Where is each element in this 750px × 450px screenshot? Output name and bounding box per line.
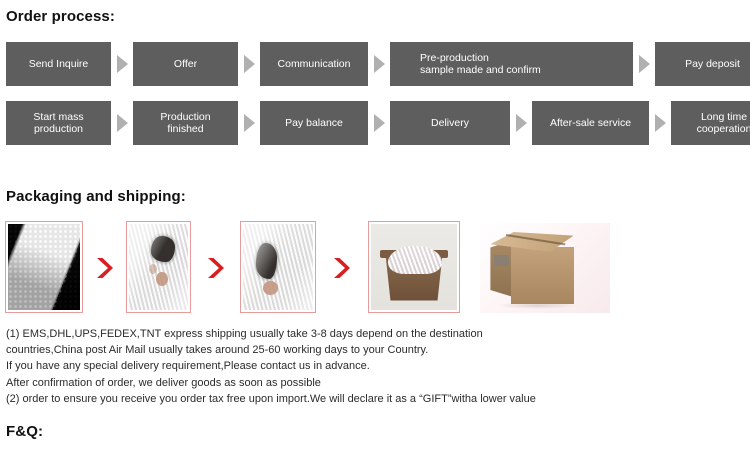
- process-step-label: Pay balance: [285, 117, 343, 130]
- process-step-label: Offer: [174, 58, 197, 71]
- process-step-send-inquire: Send Inquire: [6, 42, 111, 86]
- process-step-production-finished: Productionfinished: [133, 101, 238, 145]
- process-step-communication: Communication: [260, 42, 368, 86]
- right-triangle-icon: [639, 55, 650, 73]
- carton-contents: [388, 246, 441, 274]
- process-arrow-right-triangle-icon: [368, 42, 390, 86]
- shipping-note-line: countries,China post Air Mail usually ta…: [6, 342, 744, 358]
- process-step-long-time-cooperation: Long timecooperation: [671, 101, 750, 145]
- process-arrow-right-triangle-icon: [238, 101, 260, 145]
- process-step-label: After-sale service: [550, 117, 631, 130]
- process-step-label: Communication: [278, 58, 351, 71]
- packaging-arrow-1: [96, 257, 114, 279]
- shipping-notes: (1) EMS,DHL,UPS,FEDEX,TNT express shippi…: [6, 326, 744, 407]
- sealed-carton-image: [480, 223, 610, 313]
- right-triangle-icon: [516, 114, 527, 132]
- film-sheen: [243, 224, 313, 310]
- order-process-row-2: Start massproductionProductionfinishedPa…: [6, 101, 746, 145]
- bubble-wrap-image: [8, 224, 80, 310]
- process-step-pay-deposit: Pay deposit: [655, 42, 750, 86]
- shipping-note-line: (2) order to ensure you receive you orde…: [6, 391, 744, 407]
- carton-label-stamp: [494, 255, 508, 266]
- right-triangle-icon: [244, 55, 255, 73]
- wrapped-item-image: [129, 224, 188, 310]
- packaging-arrow-3: [333, 257, 351, 279]
- right-triangle-icon: [374, 55, 385, 73]
- film-sheen: [129, 224, 188, 310]
- right-triangle-icon: [655, 114, 666, 132]
- right-triangle-icon: [244, 114, 255, 132]
- page-title-packaging-shipping: Packaging and shipping:: [6, 188, 186, 205]
- process-arrow-right-triangle-icon: [368, 101, 390, 145]
- process-step-label: Productionfinished: [160, 111, 210, 136]
- photo-content: [129, 224, 188, 310]
- right-triangle-icon: [117, 55, 128, 73]
- right-triangle-icon: [117, 114, 128, 132]
- process-step-label: Pay deposit: [685, 58, 740, 71]
- shipping-note-line: If you have any special delivery require…: [6, 358, 744, 374]
- process-arrow-right-triangle-icon: [111, 101, 133, 145]
- process-arrow-right-triangle-icon: [633, 42, 655, 86]
- packaging-photo-sealed-carton: [480, 223, 610, 313]
- order-process-row-1: Send InquireOfferCommunicationPre-produc…: [6, 42, 746, 86]
- page-title-faq: F&Q:: [6, 423, 43, 440]
- packaging-photo-item-wrapped-1: [126, 221, 191, 313]
- packaging-photo-strip: [5, 221, 745, 315]
- right-triangle-icon: [374, 114, 385, 132]
- process-step-label: Pre-productionsample made and confirm: [420, 52, 541, 77]
- process-step-delivery: Delivery: [390, 101, 510, 145]
- carton-front-face: [511, 247, 573, 304]
- process-arrow-right-triangle-icon: [111, 42, 133, 86]
- process-step-pay-balance: Pay balance: [260, 101, 368, 145]
- process-step-offer: Offer: [133, 42, 238, 86]
- process-step-start-mass-production: Start massproduction: [6, 101, 111, 145]
- wrapped-item-image-2: [243, 224, 313, 310]
- process-step-label: Start massproduction: [33, 111, 83, 136]
- shipping-note-line: After confirmation of order, we deliver …: [6, 375, 744, 391]
- process-arrow-right-triangle-icon: [649, 101, 671, 145]
- process-arrow-right-triangle-icon: [510, 101, 532, 145]
- carton-left-face: [490, 240, 512, 297]
- packaging-photo-open-carton: [368, 221, 460, 313]
- open-carton-image: [371, 224, 457, 310]
- page-title-order-process: Order process:: [6, 8, 115, 25]
- shipping-note-line: (1) EMS,DHL,UPS,FEDEX,TNT express shippi…: [6, 326, 744, 342]
- process-step-label: Long timecooperation: [697, 111, 750, 136]
- photo-content: [243, 224, 313, 310]
- process-step-label: Send Inquire: [29, 58, 89, 71]
- packaging-photo-bubble-wrap: [5, 221, 83, 313]
- process-step-label: Delivery: [431, 117, 469, 130]
- packaging-arrow-2: [207, 257, 225, 279]
- photo-content: [8, 224, 80, 310]
- process-step-after-sale-service: After-sale service: [532, 101, 649, 145]
- packaging-photo-item-wrapped-2: [240, 221, 316, 313]
- photo-content: [371, 224, 457, 310]
- process-arrow-right-triangle-icon: [238, 42, 260, 86]
- process-step-pre-production: Pre-productionsample made and confirm: [390, 42, 633, 86]
